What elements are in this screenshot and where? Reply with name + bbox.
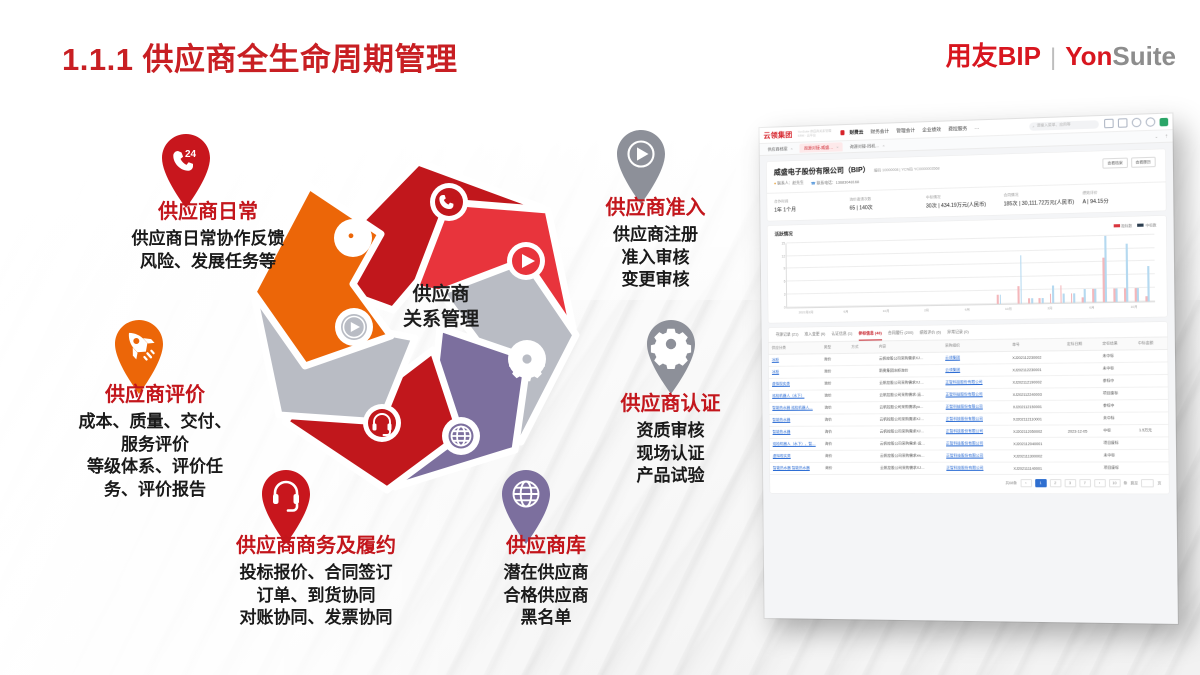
chart-bar-group	[829, 242, 840, 307]
table-body: 冰柜询价云帆控股公司采购需求XJ…云领集团XJ202112230002未中标冰柜…	[769, 350, 1169, 475]
table-cell	[1065, 462, 1101, 474]
erp-nav-item-0[interactable]: 财费云	[849, 129, 863, 136]
brand-separator: |	[1050, 44, 1056, 72]
brand-logo: 用友BIP | Yon Suite	[946, 36, 1176, 73]
table-header-5: 单号	[1009, 339, 1064, 352]
stat-0-value: 1年 1个月	[774, 205, 845, 213]
chart-bar-win	[1104, 236, 1107, 302]
chart-bars	[786, 234, 1155, 307]
table-cell	[1064, 363, 1099, 376]
block-library-line-1: 潜在供应商	[466, 562, 626, 585]
table-cell: 正智科技股份有限公司	[942, 389, 1009, 402]
table-cell: 询价	[821, 366, 848, 378]
block-admission-line-1: 供应商注册	[578, 224, 733, 247]
inner-icon-headset	[363, 404, 401, 442]
legend-swatch-1	[1137, 224, 1143, 227]
chart-bar-win	[1031, 299, 1033, 303]
stat-0-label: 合作时间	[774, 197, 845, 204]
erp-brand-sub-2: SRM · 云平台	[798, 133, 832, 137]
chart-x-tick: 6月	[826, 308, 866, 314]
inner-icon-play-left	[335, 308, 373, 346]
table-cell: 正智科技股份有限公司	[943, 450, 1010, 462]
pager-page-2[interactable]: 2	[1049, 479, 1061, 487]
chart-bar-group	[1014, 238, 1025, 304]
records-tab-6[interactable]: 异常记录 (0)	[947, 330, 969, 339]
chart-bar-win	[1116, 288, 1118, 301]
chart-bar-group	[921, 240, 932, 305]
chart-x-tick: 6月	[1071, 304, 1113, 310]
pager-page-unit: 页	[1157, 481, 1161, 486]
table-cell	[1064, 388, 1099, 401]
stat-4-value: A | 94.15分	[1082, 197, 1158, 206]
close-icon[interactable]: ×	[790, 146, 792, 151]
block-commerce-line-3: 对账协同、发票协同	[196, 607, 436, 630]
company-meta: 编码 10000008 | YCN码 YC0000003568	[874, 167, 940, 174]
chart-bar-group	[962, 239, 973, 305]
records-tab-5[interactable]: 绩效评价 (6)	[920, 331, 942, 340]
pager-next[interactable]: ›	[1094, 479, 1106, 487]
table-header-7: 定标结果	[1099, 338, 1135, 350]
pin-supplier-certification	[640, 318, 702, 396]
chart-bar-group	[869, 241, 880, 306]
chart-bar-group	[983, 238, 994, 304]
table-cell[interactable]: 虚拟现实类	[769, 378, 821, 391]
table-cell	[1065, 437, 1101, 450]
erp-nav-item-1[interactable]: 财务会计	[870, 128, 889, 135]
records-tab-1[interactable]: 准入变更 (6)	[804, 332, 825, 341]
table-cell: 正智科技股份有限公司	[942, 376, 1009, 389]
table-cell: 云帆控股公司采购需求XJ…	[876, 353, 942, 366]
erp-search-box[interactable]: ⌕ 请输入菜单、应用等	[1029, 120, 1099, 131]
table-cell	[849, 414, 877, 426]
erp-header-icons[interactable]	[1104, 117, 1168, 129]
chart-x-tick: 10月	[988, 306, 1029, 312]
inner-icon-gear	[508, 340, 546, 381]
erp-tab-2[interactable]: 询源对接-同机… ×	[846, 141, 889, 152]
block-supplier-commerce: 供应商商务及履约 投标报价、合同签订 订单、到货协同 对账协同、发票协同	[196, 534, 436, 630]
chart-x-tick: 10月	[1113, 304, 1155, 310]
table-cell	[1135, 362, 1168, 375]
chart-bar-win	[1062, 294, 1064, 303]
chart-bar-group	[1131, 235, 1142, 302]
block-daily-title: 供应商日常	[93, 200, 323, 225]
chart-bar-group	[859, 241, 870, 306]
fire-icon	[840, 130, 844, 135]
table-cell[interactable]: 智能热水器 巡检机器人…	[769, 402, 821, 414]
table-cell[interactable]: 冰柜	[769, 366, 821, 379]
erp-tab-0[interactable]: 供应商档案 ×	[764, 144, 797, 154]
chart-plot-area: 03691215	[785, 234, 1155, 308]
page-title: 1.1.1 供应商全生命周期管理	[62, 34, 458, 79]
pager-total: 共68条	[1005, 481, 1017, 486]
block-admission-line-3: 变更审核	[578, 269, 733, 292]
chart-bar-group	[1004, 238, 1015, 304]
pager-jump-input[interactable]	[1141, 479, 1154, 487]
table-cell: 云帆控股公司采购需求xw…	[877, 450, 943, 462]
erp-tab-0-label: 供应商档案	[768, 146, 788, 153]
table-cell: 询价	[821, 378, 848, 390]
chart-bar-group	[1142, 235, 1153, 302]
chart-bar-win	[1041, 299, 1043, 303]
erp-tab-2-label: 询源对接-同机…	[850, 143, 880, 150]
legend-label-0: 投标数	[1121, 224, 1132, 228]
table-cell: XJ202111140001	[1010, 462, 1065, 474]
chart-y-tick: 9	[783, 267, 785, 271]
table-cell: 参标中	[1100, 375, 1136, 388]
chart-x-tick: 6月	[947, 306, 988, 312]
table-cell: 正智科技股份有限公司	[943, 413, 1010, 426]
erp-search-placeholder: 请输入菜单、应用等	[1037, 122, 1071, 128]
table-cell	[1136, 437, 1169, 450]
table-cell: 询价	[821, 402, 848, 414]
company-contact: ● 联系人：赵先生	[774, 180, 804, 187]
chart-bar-group	[1025, 237, 1036, 303]
table-cell: 询价	[822, 438, 849, 450]
erp-nav-item-more[interactable]: ···	[974, 125, 979, 130]
table-cell: 正智科技股份有限公司	[943, 462, 1010, 474]
table-cell	[848, 353, 876, 365]
legend-item-1[interactable]: 中标数	[1137, 222, 1156, 228]
block-commerce-title: 供应商商务及履约	[196, 534, 436, 559]
erp-nav-item-4[interactable]: 费控服务	[948, 125, 967, 132]
block-certification-line-1: 资质审核	[593, 420, 748, 443]
close-icon[interactable]: ×	[882, 143, 884, 148]
table-header-1: 类型	[821, 342, 848, 354]
chart-x-tick: 10月	[866, 308, 906, 314]
erp-tab-actions[interactable]: ⌄ ⇡	[1155, 133, 1169, 139]
table-cell: XJ202112050002	[1010, 425, 1065, 438]
chart-bar-group	[931, 240, 942, 305]
help-icon[interactable]	[1132, 118, 1142, 128]
records-tab-3[interactable]: 参标信息 (48)	[858, 332, 881, 341]
erp-tab-1-label: 询源对接-威盛…	[804, 144, 833, 151]
table-row[interactable]: 巡检机器人（水下）、智…询价云帆控股公司采购需求-运…正智科技股份有限公司XJ2…	[770, 437, 1169, 451]
pager-page-last[interactable]: 7	[1079, 479, 1091, 487]
table-cell[interactable]: 冰柜	[769, 354, 821, 367]
block-supplier-certification: 供应商认证 资质审核 现场认证 产品试验	[593, 392, 748, 488]
block-evaluation-line-2: 服务评价	[45, 434, 265, 457]
chart-bar-group	[900, 240, 911, 305]
block-evaluation-line-3: 等级体系、评价任	[45, 456, 265, 479]
inner-icon-rocket	[334, 219, 372, 257]
chart-bar-win	[1126, 244, 1129, 302]
table-header-0: 供应分类	[769, 342, 821, 354]
table-cell: 询价	[822, 463, 850, 475]
table-cell	[1065, 413, 1101, 426]
table-cell: 未中标	[1099, 363, 1135, 376]
records-tab-2[interactable]: 认证信息 (1)	[831, 332, 852, 341]
table-cell: 1.5万元	[1136, 425, 1169, 438]
chart-bar-group	[941, 239, 952, 304]
chart-bar-group	[880, 241, 891, 306]
block-certification-line-2: 现场认证	[593, 443, 748, 466]
chart-bar-group	[1067, 236, 1078, 302]
table-cell	[1064, 351, 1099, 364]
stat-contract: 合同情况 185次 | 30,111.72万元(人民币)	[1004, 191, 1079, 208]
table-header-2: 方式	[848, 342, 876, 354]
block-commerce-line-1: 投标报价、合同签订	[196, 562, 436, 585]
chart-bar-group	[993, 238, 1004, 304]
block-daily-line-2: 风险、发展任务等	[93, 251, 323, 274]
table-cell: XJ202112110001	[1010, 413, 1065, 426]
pager-page-size[interactable]: 10	[1109, 479, 1121, 487]
table-cell	[849, 390, 877, 402]
avatar[interactable]	[1160, 117, 1169, 126]
table-cell[interactable]: 智能热水器 智能热水器	[770, 463, 822, 475]
chart-bar-group	[1056, 237, 1067, 303]
chart-y-tick: 3	[784, 293, 786, 297]
stat-2-label: 中标情况	[926, 193, 1000, 200]
chevron-down-icon[interactable]: ⌄	[1155, 134, 1159, 139]
company-phone: ☎ 联系电话：13683048168	[811, 179, 859, 186]
apps-icon[interactable]	[1104, 119, 1114, 129]
chart-bar-win	[1073, 294, 1075, 303]
table-cell: 新奥集团冰柜询价	[876, 365, 942, 378]
chart-bar-group	[849, 241, 860, 306]
records-tab-4[interactable]: 合同履行 (200)	[888, 331, 914, 340]
table-cell: 正智科技股份有限公司	[943, 438, 1010, 450]
table-cell	[1135, 387, 1168, 400]
erp-nav-item-3[interactable]: 企业绩效	[922, 126, 941, 133]
table-cell: 参标中	[1100, 400, 1136, 413]
pin-supplier-daily: 24	[155, 132, 217, 210]
chart-bar-group	[1035, 237, 1046, 303]
pager-page-1[interactable]: 1	[1035, 479, 1047, 487]
stat-performance: 绩效评价 A | 94.15分	[1082, 188, 1158, 205]
block-evaluation-line-4: 务、评价报告	[45, 479, 265, 502]
table-row[interactable]: 智能热水器 智能热水器询价云帆控股公司采购需求XJ…正智科技股份有限公司XJ20…	[770, 462, 1169, 475]
chart-bar-win	[1020, 255, 1022, 303]
table-cell	[848, 365, 876, 377]
pager-unit: 条	[1123, 481, 1127, 486]
company-card: 查看档案 查看履历 威盛电子股份有限公司（BIP） 编码 10000008 | …	[767, 149, 1166, 220]
stat-1-value: 65 | 140次	[849, 203, 921, 211]
stat-1-label: 询价邀请次数	[849, 195, 921, 202]
table-cell: 中标	[1100, 425, 1136, 438]
chart-x-tick: 2月	[1029, 305, 1071, 311]
view-archive-button[interactable]: 查看档案	[1103, 158, 1128, 169]
brand-yonbip: 用友BIP	[946, 36, 1041, 73]
table-cell[interactable]: 虚拟现实类	[770, 451, 822, 463]
erp-brand-logo: 云领集团	[763, 129, 792, 140]
chart-bar-group	[809, 242, 820, 307]
message-icon[interactable]	[1118, 118, 1128, 128]
table-cell: XJ202112240003	[1010, 388, 1065, 401]
table-cell: 项目废标	[1100, 462, 1136, 474]
table-cell[interactable]: 巡检机器人（水下）	[769, 390, 821, 402]
chart-bar-group	[972, 239, 983, 305]
table-header-8: 中标金额	[1135, 338, 1168, 350]
inner-icon-phone-24h: 24	[430, 183, 468, 221]
chart-bar-group	[1120, 235, 1131, 302]
chart-bar-group	[890, 240, 901, 305]
view-history-button[interactable]: 查看履历	[1131, 157, 1156, 168]
chart-legend[interactable]: 投标数 中标数	[1113, 222, 1156, 228]
table-header-4: 采购组织	[942, 340, 1009, 353]
chart-bar-group	[1109, 235, 1120, 301]
records-table-card: 寻源记录 (21)准入变更 (6)认证信息 (1)参标信息 (48)合同履行 (…	[768, 322, 1168, 494]
table-cell: 2023-12-05	[1065, 425, 1101, 438]
table-cell: XJ202111300002	[1010, 450, 1065, 462]
table-cell	[1136, 412, 1169, 425]
chart-bar-group	[799, 243, 810, 307]
chart-y-tick: 6	[784, 280, 786, 284]
chart-bar-group	[952, 239, 963, 304]
block-certification-title: 供应商认证	[593, 392, 748, 417]
stat-3-value: 185次 | 30,111.72万元(人民币)	[1004, 199, 1079, 207]
erp-tab-1[interactable]: 询源对接-威盛… ×	[800, 142, 843, 152]
chart-y-tick: 0	[784, 305, 786, 309]
table-cell	[1135, 350, 1168, 363]
table-cell: XJ202112040001	[1010, 438, 1065, 451]
table-cell	[849, 438, 877, 450]
table-cell: 云帆控股公司采购需求yu…	[876, 401, 942, 414]
table-cell: 项目废标	[1100, 387, 1136, 400]
table-cell: 未中标	[1100, 450, 1136, 463]
block-commerce-line-2: 订单、到货协同	[196, 585, 436, 608]
table-cell	[849, 378, 877, 390]
company-phone-label: 联系电话：13683048168	[817, 180, 860, 185]
table-cell: 正智科技股份有限公司	[943, 401, 1010, 414]
table-cell: 云领集团	[942, 364, 1009, 377]
chart-bar-win	[1137, 288, 1139, 301]
block-admission-title: 供应商准入	[578, 196, 733, 221]
table-cell: 询价	[821, 390, 848, 402]
chart-bar-win	[1084, 289, 1086, 302]
table-cell: XJ202112150001	[1010, 400, 1065, 413]
table-cell	[1064, 375, 1099, 388]
erp-brand-subtitle: YonSuite 供应商关系管理 SRM · 云平台	[798, 130, 832, 137]
chart-x-tick: 2月	[906, 307, 947, 313]
chart-bar-group	[1099, 236, 1110, 302]
svg-text:24: 24	[185, 149, 197, 160]
pin-supplier-admission	[610, 128, 672, 206]
stat-4-label: 绩效评价	[1082, 188, 1158, 195]
pager-jump-label: 跳至	[1131, 481, 1139, 486]
chart-bar-group	[1046, 237, 1057, 303]
table-row[interactable]: 虚拟现实类询价云帆控股公司采购需求xw…正智科技股份有限公司XJ20211130…	[770, 450, 1169, 463]
table-pagination[interactable]: 共68条 ‹ 1 2 3 7 › 10 条 跳至 页	[770, 475, 1169, 494]
block-supplier-evaluation: 供应商评价 成本、质量、交付、 服务评价 等级体系、评价任 务、评价报告	[45, 383, 265, 501]
company-actions[interactable]: 查看档案 查看履历	[1103, 157, 1156, 169]
erp-content: 查看档案 查看履历 威盛电子股份有限公司（BIP） 编码 10000008 | …	[760, 143, 1178, 624]
block-library-line-3: 黑名单	[466, 607, 626, 630]
table-cell[interactable]: 智能热水器	[769, 414, 821, 426]
erp-screenshot: 云领集团 YonSuite 供应商关系管理 SRM · 云平台 财费云 财务会计…	[759, 113, 1177, 623]
chart-bar-group	[1078, 236, 1089, 302]
table-cell	[1135, 400, 1168, 413]
pager-prev[interactable]: ‹	[1020, 479, 1032, 487]
table-cell: 云领集团	[942, 352, 1009, 365]
records-table: 供应分类类型方式内容采购组织单号定标日期定标结果中标金额 冰柜询价云帆控股公司采…	[769, 338, 1169, 476]
chart-y-tick: 12	[782, 254, 786, 258]
table-cell: 项目废标	[1100, 437, 1136, 450]
table-cell	[1065, 450, 1101, 462]
stat-3-label: 合同情况	[1004, 191, 1079, 198]
erp-nav-item-2[interactable]: 管理会计	[896, 127, 915, 134]
collapse-icon[interactable]: ⇡	[1165, 133, 1169, 138]
table-cell: 云帆控股公司采购需求XJ…	[877, 426, 943, 438]
chart-bar-win	[999, 295, 1001, 304]
table-cell	[1064, 400, 1099, 413]
phone-icon: ☎	[811, 181, 816, 185]
svg-text:24: 24	[451, 197, 458, 203]
chart-bar-group	[819, 242, 830, 307]
table-cell	[849, 426, 877, 438]
table-cell: 询价	[821, 354, 848, 366]
activity-chart-card: 活跃情况 投标数 中标数 03691215 2021年2月6月10月2月6月10…	[767, 215, 1167, 323]
brand-yon: Yon	[1065, 41, 1112, 72]
table-cell: 云帆控股公司采购需求XJ…	[876, 377, 942, 390]
chart-bar-group	[839, 242, 850, 307]
block-library-title: 供应商库	[466, 534, 626, 559]
chart-x-tick: 2021年2月	[786, 309, 826, 315]
chart-bar-win	[1148, 266, 1150, 301]
table-cell: 未中标	[1099, 350, 1135, 363]
table-cell: 云帆控股公司采购需求XJ…	[877, 462, 943, 474]
block-admission-line-2: 准入审核	[578, 247, 733, 270]
table-cell: XJ202112230002	[1009, 351, 1064, 364]
close-icon[interactable]: ×	[836, 144, 838, 149]
table-cell: 询价	[822, 426, 849, 438]
table-cell: 询价	[822, 451, 849, 463]
erp-main-nav[interactable]: 财费云 财务会计 管理会计 企业绩效 费控服务 ···	[849, 125, 979, 136]
table-cell: XJ202112190002	[1009, 376, 1064, 389]
inner-icon-play-right	[507, 242, 545, 280]
chart-bar-win	[1052, 285, 1054, 303]
table-cell	[849, 402, 877, 414]
legend-item-0[interactable]: 投标数	[1113, 223, 1132, 229]
person-icon: ●	[774, 181, 776, 185]
table-cell: 云帆控股公司采购需求-运…	[877, 438, 943, 450]
table-cell	[849, 463, 877, 475]
settings-icon[interactable]	[1146, 117, 1156, 127]
block-supplier-admission: 供应商准入 供应商注册 准入审核 变更审核	[578, 196, 733, 292]
table-cell: 询价	[822, 414, 849, 426]
block-supplier-daily: 供应商日常 供应商日常协作反馈 风险、发展任务等	[93, 200, 323, 273]
company-contact-label: 联系人：赵先生	[777, 180, 804, 185]
company-name: 威盛电子股份有限公司（BIP）	[774, 165, 870, 178]
table-cell: 未中标	[1100, 412, 1136, 425]
table-cell[interactable]: 智能热水器	[770, 426, 822, 438]
stat-bid-win: 中标情况 30次 | 434.19万元(人民币)	[926, 193, 1000, 210]
table-cell: 云帆控股公司采购需求-运…	[876, 389, 942, 402]
table-header-6: 定标日期	[1064, 339, 1099, 351]
chart-y-tick: 15	[781, 241, 785, 245]
block-library-line-2: 合格供应商	[466, 585, 626, 608]
block-evaluation-title: 供应商评价	[45, 383, 265, 408]
chart-bar-group	[1088, 236, 1099, 302]
table-cell	[1136, 462, 1169, 475]
table-cell[interactable]: 巡检机器人（水下）、智…	[770, 439, 822, 451]
block-evaluation-line-1: 成本、质量、交付、	[45, 411, 265, 434]
pager-page-3[interactable]: 3	[1064, 479, 1076, 487]
legend-label-1: 中标数	[1145, 223, 1156, 227]
block-supplier-library: 供应商库 潜在供应商 合格供应商 黑名单	[466, 534, 626, 630]
records-tab-0[interactable]: 寻源记录 (21)	[775, 333, 798, 342]
stat-2-value: 30次 | 434.19万元(人民币)	[926, 201, 1000, 209]
block-certification-line-3: 产品试验	[593, 465, 748, 488]
table-header-3: 内容	[876, 341, 942, 354]
table-cell: 云帆控股公司采购需求XJ…	[876, 414, 942, 427]
search-icon: ⌕	[1032, 124, 1034, 128]
table-cell	[1135, 375, 1168, 388]
chart-bar-group	[910, 240, 921, 305]
table-cell: 正智科技股份有限公司	[943, 425, 1010, 438]
stat-inquiry-count: 询价邀请次数 65 | 140次	[849, 195, 922, 211]
table-cell: XJ202112230001	[1009, 363, 1064, 376]
stat-cooperation-time: 合作时间 1年 1个月	[774, 197, 845, 213]
